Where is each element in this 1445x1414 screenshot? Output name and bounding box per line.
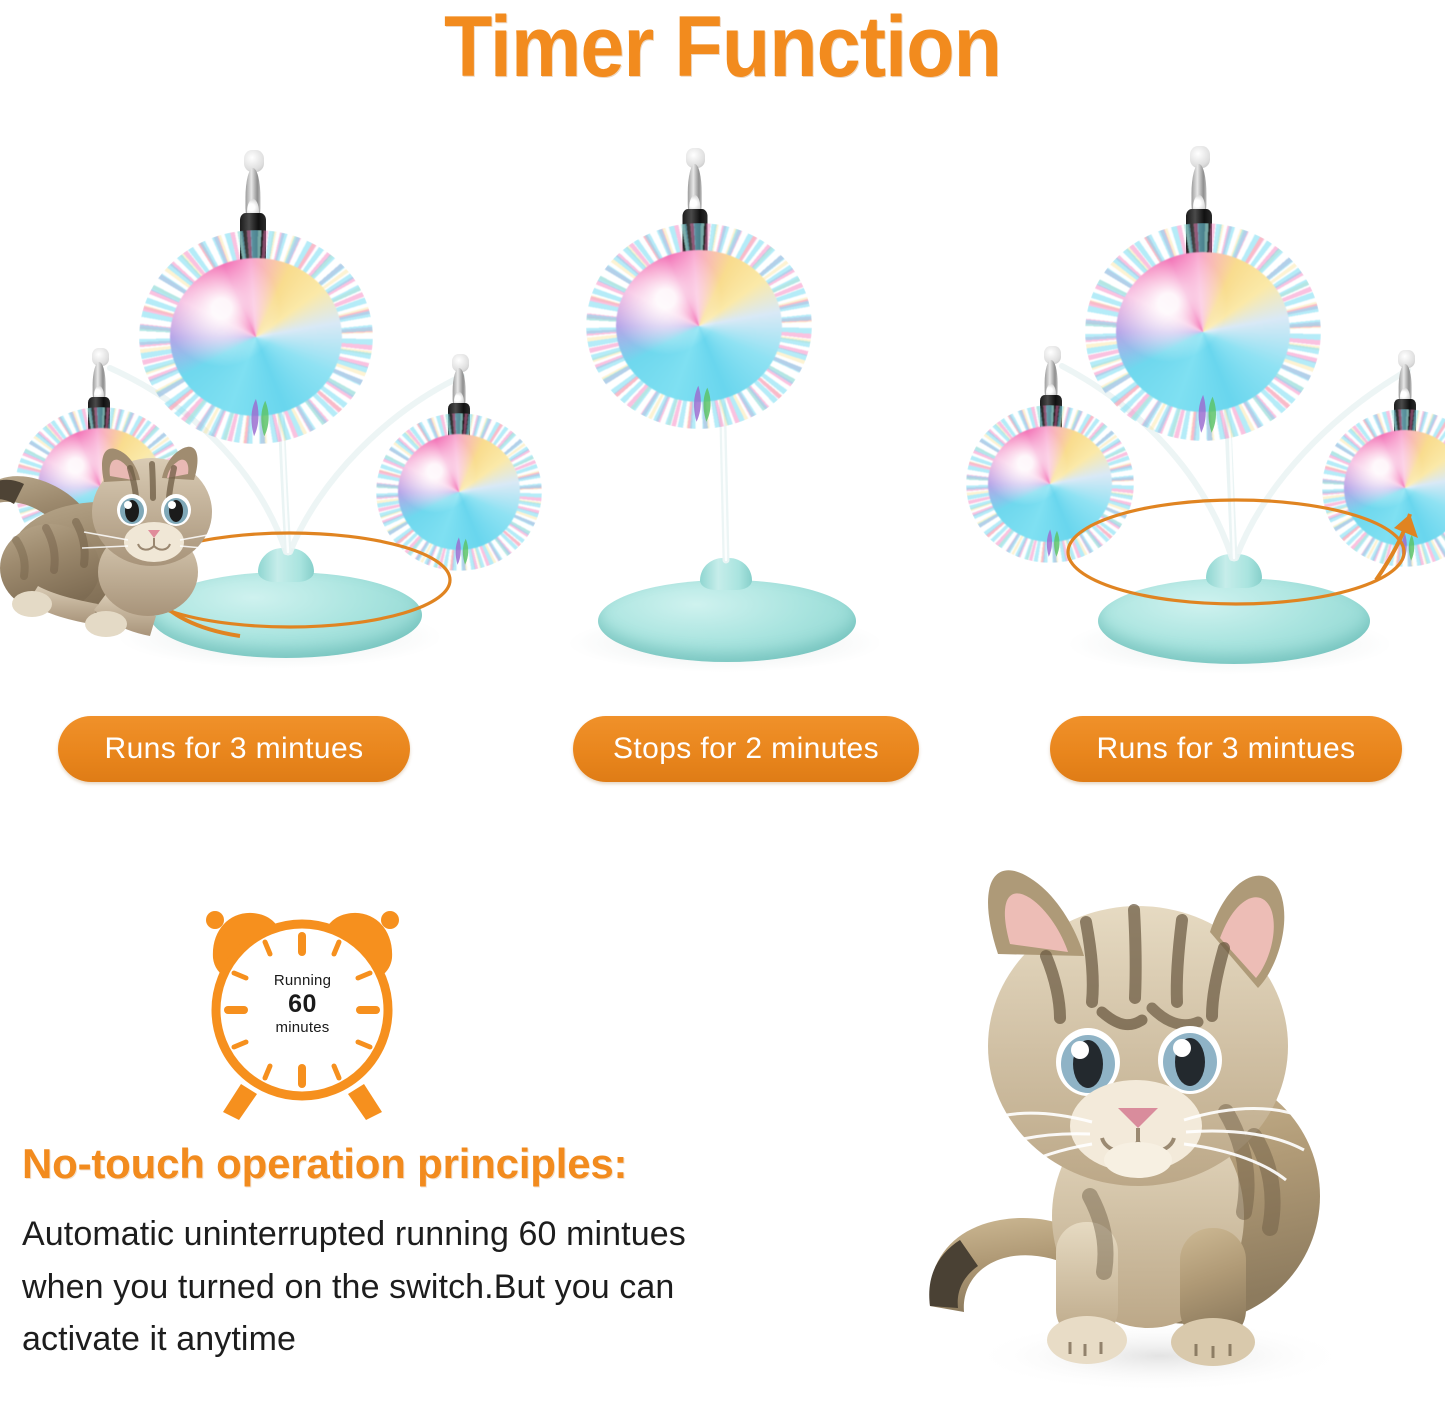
kitten-photo-left xyxy=(0,408,310,658)
footer-body-line-1: Automatic uninterrupted running 60 mintu… xyxy=(22,1208,752,1261)
caption-pill-right-label: Runs for 3 mintues xyxy=(1097,732,1356,766)
footer-body-line-3: activate it anytime xyxy=(22,1313,752,1366)
feather-tips xyxy=(682,384,722,424)
clock-value-minutes: 60 xyxy=(185,990,420,1020)
caption-pill-middle[interactable]: Stops for 2 minutes xyxy=(573,716,919,782)
clock-label-running: Running xyxy=(185,972,420,990)
caption-pill-right[interactable]: Runs for 3 mintues xyxy=(1050,716,1402,782)
alarm-clock-icon: Running 60 minutes xyxy=(185,888,420,1123)
feather-pom-center xyxy=(1116,252,1290,412)
feather-pom-center xyxy=(616,250,782,402)
feather-pom-center xyxy=(170,258,342,416)
product-panels xyxy=(0,140,1445,680)
panel-stopped-middle xyxy=(490,140,960,680)
panel-running-left xyxy=(0,140,490,680)
caption-pill-left-label: Runs for 3 mintues xyxy=(105,732,364,766)
clock-unit-minutes: minutes xyxy=(185,1019,420,1037)
caption-pill-left[interactable]: Runs for 3 mintues xyxy=(58,716,410,782)
infographic-page: Timer Function xyxy=(0,0,1445,1414)
kitten-photo-bottom xyxy=(880,836,1440,1406)
clock-face-text: Running 60 minutes xyxy=(185,972,420,1037)
rotation-arrow-icon xyxy=(1046,422,1445,642)
footer-headline: No-touch operation principles: xyxy=(22,1140,782,1188)
caption-pill-middle-label: Stops for 2 minutes xyxy=(613,732,879,766)
footer-body: Automatic uninterrupted running 60 mintu… xyxy=(22,1208,752,1366)
panel-running-right xyxy=(960,140,1445,680)
page-title: Timer Function xyxy=(58,2,1387,92)
footer-body-line-2: when you turned on the switch.But you ca… xyxy=(22,1261,752,1314)
